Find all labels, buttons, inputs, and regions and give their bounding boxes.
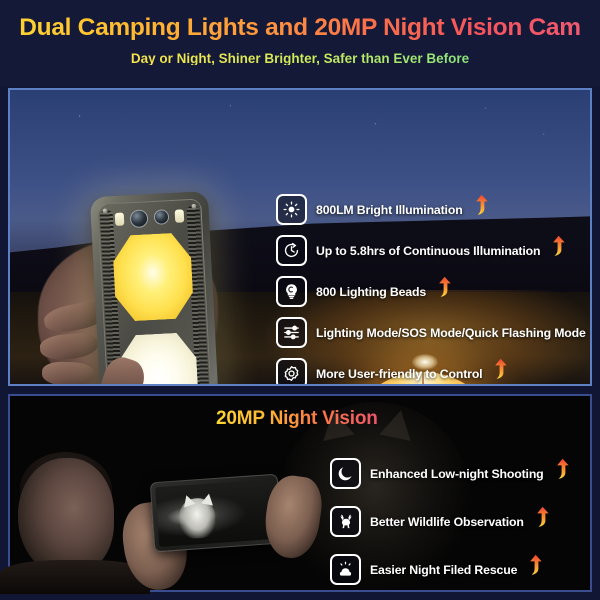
feature-label: Enhanced Low-night Shooting	[370, 467, 544, 481]
up-arrow-icon	[534, 506, 550, 527]
cat-ear	[201, 493, 215, 506]
camping-lights-panel: 800LM Bright Illumination	[8, 88, 592, 386]
camera-lens	[154, 209, 170, 225]
up-arrow-icon	[492, 358, 508, 379]
camping-light-phone	[90, 191, 220, 386]
siren-alarm-icon	[330, 554, 361, 585]
feature-item: Lighting Mode/SOS Mode/Quick Flashing Mo…	[276, 317, 592, 348]
gear-icon	[276, 358, 307, 386]
up-arrow-icon	[527, 554, 543, 575]
flash-icon	[115, 213, 125, 226]
moon-icon	[330, 458, 361, 489]
deer-icon	[330, 506, 361, 537]
finger	[42, 361, 95, 386]
night-vision-phone	[150, 474, 283, 553]
feature-item: More User-friendly to Control	[276, 358, 592, 386]
feature-label: Better Wildlife Observation	[370, 515, 524, 529]
feature-item: Better Wildlife Observation	[330, 506, 594, 537]
brightness-sun-icon	[276, 194, 307, 225]
feature-label: 800LM Bright Illumination	[316, 203, 463, 217]
feature-item: 800 Lighting Beads	[276, 276, 592, 307]
feature-label: More User-friendly to Control	[316, 367, 482, 381]
person-head	[18, 458, 114, 576]
camera-lens	[130, 209, 149, 228]
header: Dual Camping Lights and 20MP Night Visio…	[0, 0, 600, 86]
feature-label: Easier Night Filed Rescue	[370, 563, 517, 577]
feature-item: Enhanced Low-night Shooting	[330, 458, 594, 489]
feature-label: Lighting Mode/SOS Mode/Quick Flashing Mo…	[316, 326, 586, 340]
night-vision-feature-list: Enhanced Low-night Shooting Better Wildl…	[330, 458, 594, 600]
feature-label: Up to 5.8hrs of Continuous Illumination	[316, 244, 540, 258]
camera-module	[115, 206, 188, 229]
clock-duration-icon	[276, 235, 307, 266]
night-vision-title: 20MP Night Vision	[216, 409, 378, 428]
product-poster: Dual Camping Lights and 20MP Night Visio…	[0, 0, 600, 600]
feature-item: 800LM Bright Illumination	[276, 194, 592, 225]
sliders-settings-icon	[276, 317, 307, 348]
up-arrow-icon	[554, 458, 570, 479]
feature-item: Easier Night Filed Rescue	[330, 554, 594, 585]
up-arrow-icon	[473, 194, 489, 215]
camping-feature-list: 800LM Bright Illumination	[276, 194, 592, 386]
up-arrow-icon	[436, 276, 452, 297]
flash-icon	[175, 209, 185, 222]
page-subtitle: Day or Night, Shiner Brighter, Safer tha…	[0, 41, 600, 66]
up-arrow-icon	[550, 235, 566, 256]
phone-screen	[155, 479, 277, 547]
page-title: Dual Camping Lights and 20MP Night Visio…	[0, 0, 600, 41]
feature-item: Up to 5.8hrs of Continuous Illumination	[276, 235, 592, 266]
feature-label: 800 Lighting Beads	[316, 285, 426, 299]
lightbulb-icon	[276, 276, 307, 307]
